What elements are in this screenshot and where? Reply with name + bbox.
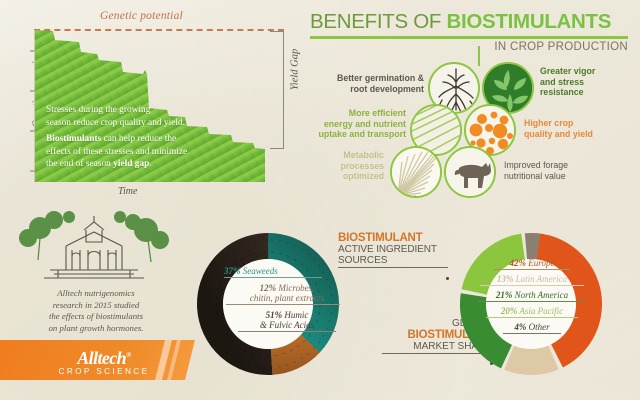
benefit-label-higher-crop-quality: Higher crop quality and yield	[524, 118, 628, 139]
legend-pct: 20%	[501, 306, 518, 316]
legend-item-microbes: 12% Microbes, chitin, plant extracts	[212, 283, 362, 303]
benefit-line: resistance	[540, 87, 584, 97]
logo-wordmark: Alltech®	[44, 348, 164, 369]
legend-rule	[226, 304, 340, 305]
legend-pct: 4%	[514, 322, 526, 332]
legend-item-asia-pacific: 20% Asia Pacific	[439, 306, 625, 316]
benefit-label-root-development: Better germination & root development	[306, 73, 424, 94]
title-line: BIOSTIMULANT	[338, 232, 458, 244]
research-caption: Alltech nutrigenomics research in 2015 s…	[6, 288, 186, 335]
cow-icon	[444, 146, 496, 198]
legend-label: Humic	[282, 310, 308, 320]
benefit-line: Improved forage	[504, 160, 568, 170]
benefit-line: Higher crop	[524, 118, 573, 128]
page-header: BENEFITS OF BIOSTIMULANTS IN CROP PRODUC…	[310, 10, 636, 53]
legend-item-humic: 51% Humic & Fulvic Acids	[212, 310, 362, 330]
legend-rule	[224, 277, 322, 278]
legend-pct: 37%	[224, 266, 241, 276]
title-rule	[338, 267, 448, 268]
legend-pct: 51%	[266, 310, 283, 320]
benefit-label-metabolic-processes: Metabolic processes optimized	[306, 150, 384, 182]
legend-item-north-america: 21% North America	[439, 290, 625, 300]
legend-pct: 12%	[260, 283, 277, 293]
legend-label: Europe	[526, 258, 554, 268]
legend-label: North America	[512, 290, 568, 300]
legend-label: Microbes,	[276, 283, 314, 293]
legend-pct: 21%	[496, 290, 513, 300]
legend-label: chitin, plant extracts	[250, 293, 324, 303]
title-line: ACTIVE INGREDIENT	[338, 244, 458, 255]
benefit-line: processes	[340, 161, 384, 171]
metabolic-burst-icon	[390, 146, 442, 198]
legend-label: Latin America	[513, 274, 567, 284]
benefit-line: and stress	[540, 77, 584, 87]
chart-body-text: Stresses during the growing season reduc…	[46, 104, 262, 175]
legend-label: Asia Pacific	[517, 306, 563, 316]
yield-gap-label: Yield Gap	[290, 35, 301, 105]
chart-text-line1: Stresses during the growing	[46, 105, 150, 115]
legend-label: Other	[526, 322, 549, 332]
infographic-canvas: Genetic potential Genetic expression	[0, 0, 640, 400]
header-connector-line	[478, 46, 480, 66]
benefit-line: uptake and transport	[319, 129, 407, 139]
legend-item-latin-america: 13% Latin America	[439, 274, 625, 284]
caption-line: the effects of biostimulants	[49, 311, 143, 321]
genetic-potential-label: Genetic potential	[100, 10, 183, 22]
chart-text-line3: can help reduce the	[101, 134, 176, 144]
page-title-emphasis: BIOSTIMULANTS	[447, 10, 612, 33]
chart-text-bold1: Biostimulants	[46, 134, 101, 144]
market-share-donut-chart: 42% Europe 13% Latin America 21% North A…	[455, 228, 607, 380]
chart-text-end: .	[149, 159, 151, 169]
legend-rule	[478, 301, 586, 302]
legend-label: Seaweeds	[241, 266, 278, 276]
genetic-expression-chart: Genetic potential Genetic expression	[8, 4, 304, 200]
page-title: BENEFITS OF BIOSTIMULANTS	[310, 10, 636, 34]
legend-item-europe: 42% Europe	[439, 258, 625, 268]
alltech-building-icon	[14, 208, 174, 286]
legend-rule	[503, 333, 561, 334]
yield-gap-bracket	[270, 31, 284, 149]
benefit-label-energy-nutrient-uptake: More efficient energy and nutrient uptak…	[298, 108, 406, 140]
page-title-prefix: BENEFITS OF	[310, 10, 447, 33]
legend-rule	[494, 269, 570, 270]
caption-line: research in 2015 studied	[53, 300, 140, 310]
legend-rule	[238, 331, 336, 332]
legend-label: & Fulvic Acids	[260, 320, 314, 330]
chart-text-line4: effects of these stresses and minimize	[46, 147, 187, 157]
benefit-line: energy and nutrient	[324, 119, 406, 129]
x-axis-label: Time	[118, 186, 137, 197]
legend-pct: 42%	[510, 258, 527, 268]
benefit-line: quality and yield	[524, 129, 593, 139]
benefit-line: Greater vigor	[540, 66, 595, 76]
registered-mark: ®	[126, 351, 131, 359]
chart-text-line5: the end of season	[46, 159, 113, 169]
benefit-line: More efficient	[349, 108, 406, 118]
benefit-line: Better germination &	[337, 73, 424, 83]
caption-line: Alltech nutrigenomics	[57, 288, 134, 298]
benefit-label-vigor-stress-resistance: Greater vigor and stress resistance	[540, 66, 636, 98]
chart-text-line2: season reduce crop quality and yield.	[46, 118, 185, 128]
legend-rule	[486, 317, 578, 318]
benefit-label-improved-forage: Improved forage nutritional value	[504, 160, 620, 181]
caption-line: on plant growth hormones.	[49, 323, 144, 333]
chart-text-bold2: yield gap	[113, 159, 149, 169]
title-divider	[310, 36, 628, 39]
legend-pct: 13%	[497, 274, 514, 284]
page-subtitle: IN CROP PRODUCTION	[310, 41, 628, 53]
benefit-line: nutritional value	[504, 171, 566, 181]
benefit-line: optimized	[343, 171, 384, 181]
alltech-logo: Alltech® CROP SCIENCE	[44, 348, 164, 376]
benefit-line: root development	[350, 84, 424, 94]
ingredient-sources-donut-chart: 37% Seaweeds 12% Microbes, chitin, plant…	[192, 228, 344, 380]
legend-item-other: 4% Other	[439, 322, 625, 332]
benefit-line: Metabolic	[343, 150, 384, 160]
logo-tagline: CROP SCIENCE	[44, 367, 164, 376]
benefits-cluster: Better germination & root development Gr…	[300, 58, 640, 198]
legend-rule	[480, 285, 584, 286]
logo-text: Alltech	[77, 348, 126, 368]
